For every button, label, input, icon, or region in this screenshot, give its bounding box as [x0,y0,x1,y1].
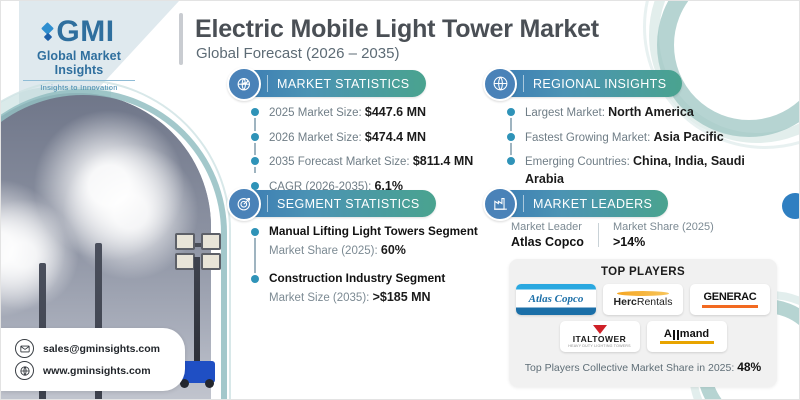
logo-text: Atlas Copco [516,294,596,305]
item-value: North America [608,105,694,119]
item-label: 2035 Forecast Market Size: [269,156,410,168]
item-label: Fastest Growing Market: [525,132,650,144]
section-title: SEGMENT STATISTICS [277,197,436,211]
logo-text-light: Rentals [637,296,673,308]
item-value: 60% [381,243,406,257]
list-item: 2026 Market Size: $474.4 MN [249,129,479,147]
pill-divider [523,195,524,212]
section-header-market-leaders: MARKET LEADERS [485,190,668,217]
section-header-segment-statistics: SEGMENT STATISTICS [229,190,436,217]
pill-divider [267,75,268,92]
herc-rentals-logo[interactable]: HercRentals [603,284,683,315]
regional-insights-list: Largest Market: North America Fastest Gr… [505,104,745,195]
market-share-column: Market Share (2025) >14% [613,221,714,249]
top-players-panel: TOP PLAYERS Atlas Copco HercRentals GENE… [509,259,777,387]
generac-logo[interactable]: GENERAC [690,284,770,315]
globe-icon [15,361,34,380]
globe-icon [483,67,517,101]
page-subtitle: Global Forecast (2026 – 2035) [196,45,399,62]
logo-divider [23,80,135,81]
title-accent-bar [179,13,183,65]
gmi-logo: GMI Global Market Insights Insights to I… [15,17,143,92]
envelope-icon [15,339,34,358]
contact-email-row[interactable]: sales@gminsights.com [15,339,175,358]
allmand-logo[interactable]: A mand [647,321,727,352]
segment-title: Construction Industry Segment [269,271,479,287]
item-label: Market Share (2025): [269,245,378,257]
logo-company-name: Global Market Insights [15,49,143,77]
tower-lamp [175,253,195,270]
leader-label: Market Leader [511,221,584,233]
tower-lamp [201,253,221,270]
item-label: Emerging Countries: [525,156,630,168]
item-label: Market Size (2035): [269,292,369,304]
logo-tagline: HEAVY DUTY LIGHTING TOWERS [568,344,630,348]
logo-abbr: GMI [56,17,114,47]
segment-detail: Market Share (2025): 60% [269,242,479,260]
leader-value: Atlas Copco [511,235,584,249]
contact-website-row[interactable]: www.gminsights.com [15,361,175,380]
tower-lamp [175,233,195,250]
globe-chart-icon [227,67,261,101]
infographic-page: GMI Global Market Insights Insights to I… [0,0,800,400]
segment-statistics-list: Manual Lifting Light Towers Segment Mark… [249,224,479,314]
decorative-blue-dot [782,193,800,219]
share-label: Market Share (2025) [613,221,714,233]
list-item: Fastest Growing Market: Asia Pacific [505,129,745,147]
target-arrow-icon [227,187,261,221]
logo-text: A mand [660,329,714,344]
logo-text-bold: Herc [614,296,637,308]
top-players-row-2: ITALTOWER HEAVY DUTY LIGHTING TOWERS A m… [509,321,777,352]
logo-mark-row: GMI [15,17,143,47]
email-text: sales@gminsights.com [43,343,160,355]
page-title: Electric Mobile Light Tower Market [195,15,599,44]
bars-icon [673,330,679,340]
diamond-icon [43,24,52,40]
section-header-market-statistics: MARKET STATISTICS [229,70,426,97]
list-item: Manual Lifting Light Towers Segment Mark… [249,224,479,259]
item-value: Asia Pacific [653,130,723,144]
item-label: 2025 Market Size: [269,107,362,119]
logo-underline [660,341,714,344]
list-item: 2035 Forecast Market Size: $811.4 MN [249,153,479,171]
website-text: www.gminsights.com [43,365,151,377]
chevron-mark-icon [593,325,607,334]
item-value: $447.6 MN [365,105,426,119]
section-header-regional-insights: REGIONAL INSIGHTS [485,70,682,97]
logo-text: HercRentals [614,297,673,308]
top-players-title: TOP PLAYERS [509,266,777,278]
share-value: >14% [613,235,714,249]
market-leader-column: Market Leader Atlas Copco [511,221,584,249]
list-item: Largest Market: North America [505,104,745,122]
logo-tagline: Insights to Innovation [15,83,143,92]
list-item: 2025 Market Size: $447.6 MN [249,104,479,122]
segment-title: Manual Lifting Light Towers Segment [269,224,479,240]
list-item: Emerging Countries: China, India, Saudi … [505,153,745,188]
tower-lamp [201,233,221,250]
pill-divider [267,195,268,212]
item-value: >$185 MN [373,290,431,304]
item-value: $474.4 MN [365,130,426,144]
item-label: 2026 Market Size: [269,132,362,144]
item-value: $811.4 MN [413,154,473,168]
top-players-footer: Top Players Collective Market Share in 2… [509,360,777,374]
item-label: Largest Market: [525,107,605,119]
market-leaders-detail: Market Leader Atlas Copco Market Share (… [511,221,714,249]
segment-detail: Market Size (2035): >$185 MN [269,289,479,307]
italtower-logo[interactable]: ITALTOWER HEAVY DUTY LIGHTING TOWERS [560,321,640,352]
top-players-row-1: Atlas Copco HercRentals GENERAC [509,284,777,315]
column-divider [598,223,599,247]
list-item: Construction Industry Segment Market Siz… [249,271,479,306]
logo-text-mand: mand [680,329,709,340]
market-statistics-list: 2025 Market Size: $447.6 MN 2026 Market … [249,104,479,202]
logo-text-a: A [664,329,672,340]
atlas-copco-logo[interactable]: Atlas Copco [516,284,596,315]
section-title: REGIONAL INSIGHTS [533,77,682,91]
tower-wheel [205,379,214,388]
pill-divider [523,75,524,92]
section-title: MARKET STATISTICS [277,77,426,91]
contact-card: sales@gminsights.com www.gminsights.com [1,328,185,391]
logo-text: GENERAC [704,292,757,303]
logo-underline [702,305,758,308]
factory-icon [483,187,517,221]
section-title: MARKET LEADERS [533,197,668,211]
footer-label: Top Players Collective Market Share in 2… [525,362,735,374]
footer-value: 48% [737,360,761,374]
logo-text: ITALTOWER [573,335,627,344]
tower-pole [194,257,200,369]
